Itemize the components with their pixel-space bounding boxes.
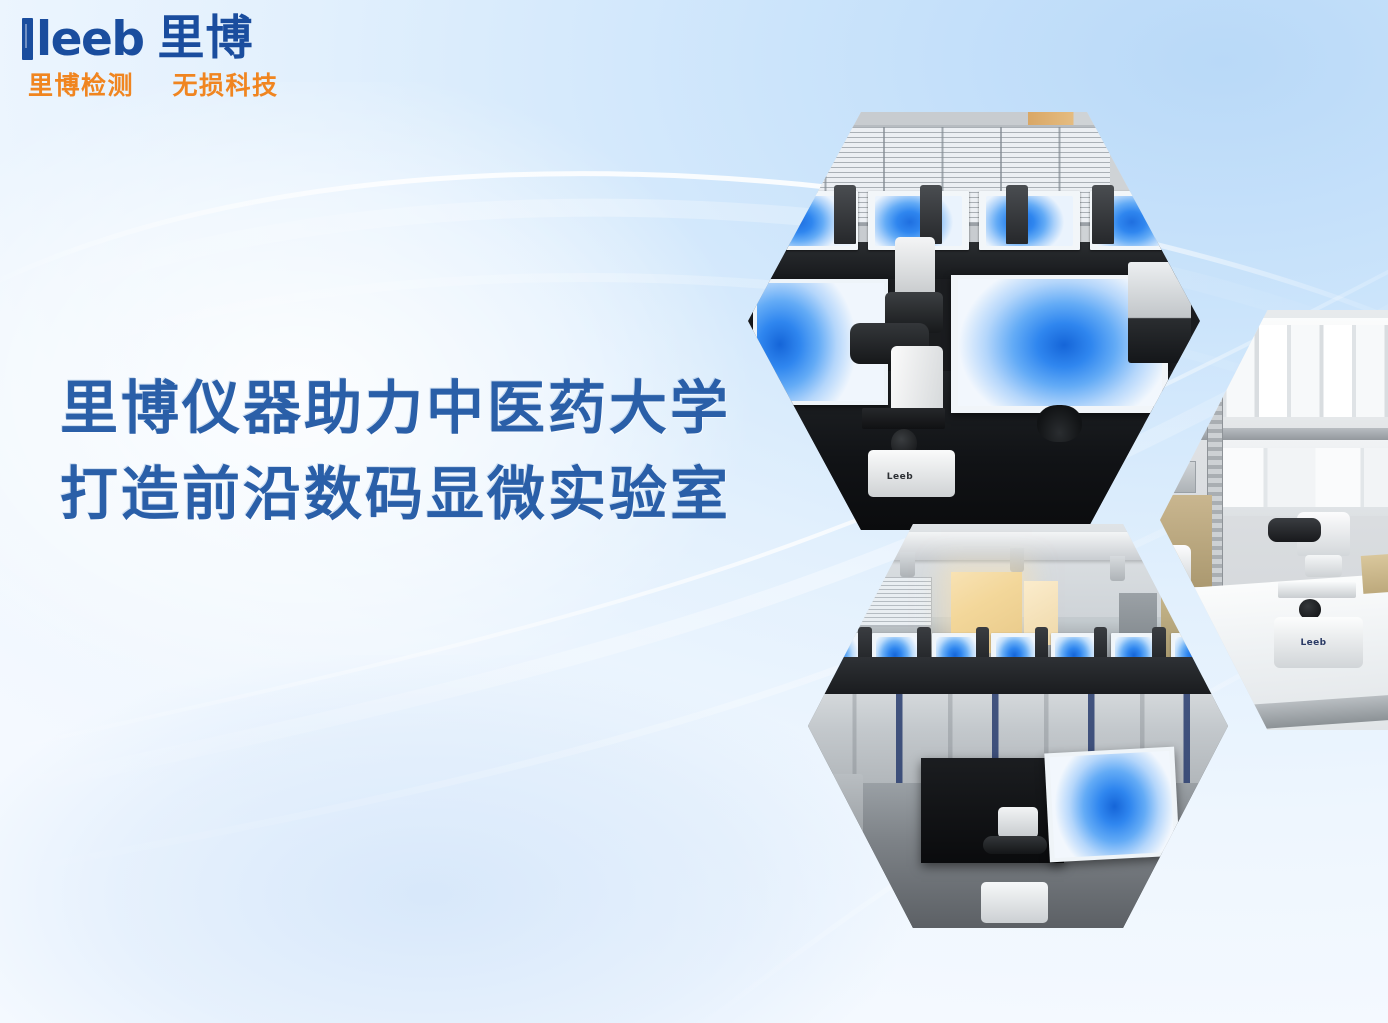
photo1-monitor-row bbox=[757, 191, 1191, 250]
logo-latin-text: leeb bbox=[36, 16, 144, 63]
photo2-bench-row bbox=[808, 657, 1228, 693]
headline-line-1: 里博仪器助力中医药大学 bbox=[60, 366, 760, 452]
photo1-monitor bbox=[979, 191, 1080, 250]
photo1-foreground-microscope: Leeb bbox=[866, 237, 965, 496]
marketing-banner: leeb 里博 里博检测 无损科技 里博仪器助力中医药大学 打造前沿数码显微实验… bbox=[0, 0, 1388, 1023]
photo1-right-microscope bbox=[1128, 262, 1191, 362]
logo-tagline: 里博检测 无损科技 bbox=[28, 66, 322, 102]
tagline-left-text: 里博检测 bbox=[28, 71, 134, 100]
brand-logo[interactable]: leeb 里博 里博检测 无损科技 bbox=[22, 14, 322, 102]
photo3-microscope: Leeb bbox=[1272, 512, 1375, 672]
photo1-background-microscope bbox=[834, 185, 857, 244]
photo2-stool bbox=[825, 774, 863, 863]
photo1-monitor-stand bbox=[1037, 405, 1082, 443]
photo2-ceiling-lamp bbox=[1110, 556, 1125, 580]
hex-photo-lab-classroom-wide[interactable] bbox=[808, 524, 1228, 928]
photo3-device-brand: Leeb bbox=[1300, 638, 1326, 648]
photo1-device-brand: Leeb bbox=[887, 472, 913, 482]
photo2-ceiling-lamp bbox=[900, 552, 915, 576]
logo-cjk-text: 里博 bbox=[158, 15, 254, 62]
hexagon-photo-collage: Leeb bbox=[736, 96, 1388, 936]
leeb-bar-icon bbox=[22, 17, 34, 61]
photo2-foreground-microscope bbox=[976, 807, 1060, 928]
photo1-background-microscope bbox=[1092, 185, 1115, 244]
photo2-foreground-monitor-on bbox=[1045, 747, 1181, 863]
hex-photo-lab-microscope-closeup[interactable]: Leeb bbox=[748, 112, 1200, 530]
photo-lab-microscope-closeup: Leeb bbox=[748, 112, 1200, 530]
photo1-background-microscope bbox=[1006, 185, 1029, 244]
photo3-top-shelf-boxes bbox=[1194, 318, 1388, 427]
photo1-background-microscope bbox=[920, 185, 943, 244]
tagline-right-text: 无损科技 bbox=[172, 71, 278, 100]
photo3-wall-outlet bbox=[1169, 461, 1197, 492]
photo2-window-blinds bbox=[829, 577, 932, 627]
logo-wordmark: leeb 里博 bbox=[22, 14, 322, 61]
headline-block: 里博仪器助力中医药大学 打造前沿数码显微实验室 bbox=[60, 366, 760, 538]
headline-line-2: 打造前沿数码显微实验室 bbox=[60, 452, 760, 538]
photo2-ceiling-lamp bbox=[1010, 548, 1025, 572]
photo3-mid-shelf-boxes bbox=[1212, 440, 1388, 516]
photo-lab-classroom-wide bbox=[808, 524, 1228, 928]
